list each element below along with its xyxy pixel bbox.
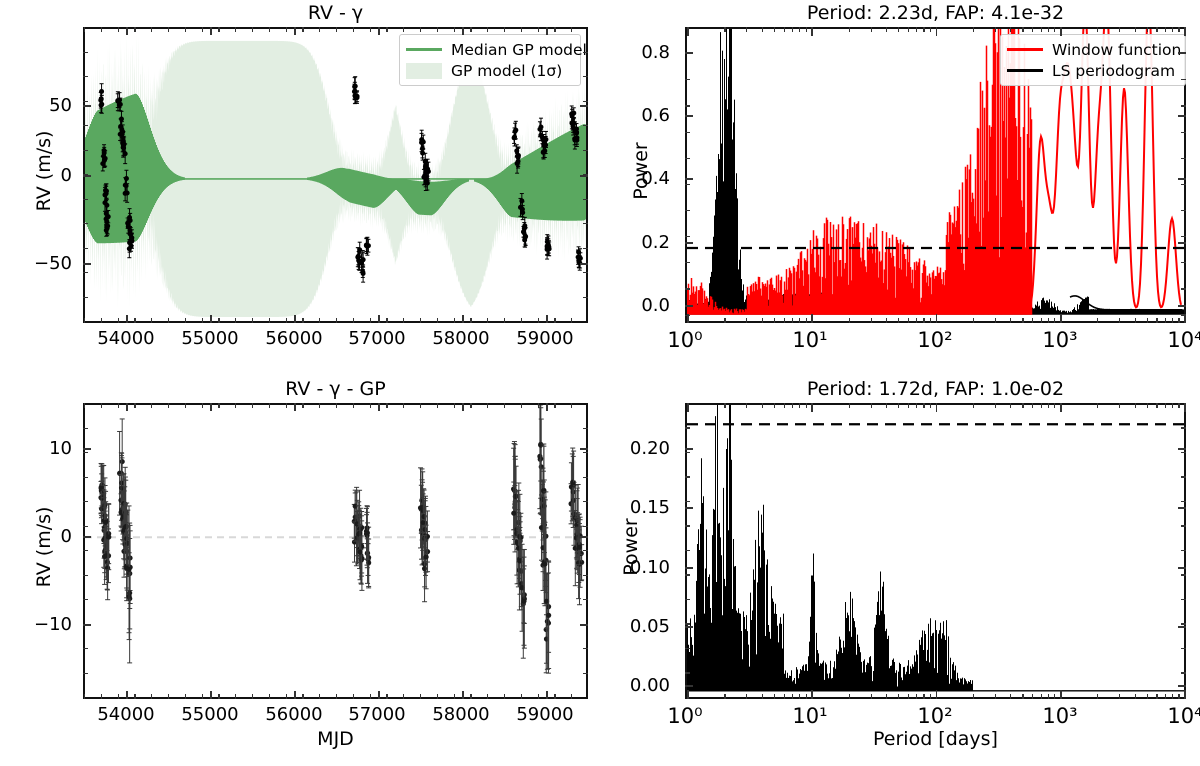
axis-tick: [583, 101, 588, 102]
axis-tick: [583, 52, 588, 53]
axes-periodogram-residuals: [685, 403, 1186, 699]
axis-tick: [792, 694, 793, 699]
axis-tick: [504, 694, 505, 699]
axis-tick: [1147, 318, 1148, 323]
x-tick-label: 10²: [905, 328, 965, 352]
axis-tick: [437, 27, 438, 32]
axis-tick: [1054, 694, 1055, 699]
axis-tick: [685, 672, 690, 673]
axis-tick: [1181, 315, 1186, 316]
axis-tick: [202, 694, 203, 699]
axis-tick: [871, 27, 872, 32]
axis-tick: [973, 318, 974, 323]
axis-tick: [973, 694, 974, 699]
axis-tick: [454, 694, 455, 699]
axis-tick: [487, 27, 488, 32]
axis-tick: [319, 318, 320, 323]
legend-key-window-function: [1007, 43, 1043, 57]
axis-tick: [302, 694, 303, 699]
axis-tick: [1119, 27, 1120, 32]
y-tick-label: 0: [28, 526, 72, 547]
axis-tick: [1135, 27, 1136, 32]
axis-tick: [1054, 27, 1055, 32]
axis-tick: [1181, 105, 1186, 106]
axis-tick: [746, 27, 747, 32]
axis-tick: [1032, 694, 1033, 699]
axis-tick: [1054, 403, 1055, 408]
axis-tick: [1165, 27, 1166, 32]
axis-tick: [126, 691, 128, 699]
legend-item: GP model (1σ): [406, 60, 572, 81]
axis-tick: [916, 403, 917, 408]
y-axis-label-periodogram-residuals: Power: [620, 472, 642, 622]
axis-tick: [936, 314, 938, 323]
axis-tick: [1181, 132, 1186, 133]
axis-tick: [504, 403, 505, 408]
axis-tick: [583, 297, 588, 298]
axis-tick: [126, 27, 128, 35]
axis-tick: [806, 27, 807, 32]
axis-tick: [1181, 262, 1186, 263]
axis-tick: [792, 403, 793, 408]
legend-key-median-gp-model: [406, 43, 442, 57]
axis-tick: [252, 403, 253, 408]
axis-tick: [1181, 525, 1186, 526]
axis-tick: [185, 318, 186, 323]
axis-tick: [685, 452, 690, 453]
axis-tick: [784, 27, 785, 32]
axis-tick: [269, 694, 270, 699]
y-tick-label: 0.10: [600, 557, 670, 578]
axis-tick: [871, 403, 872, 408]
axis-tick: [83, 648, 88, 649]
axis-tick: [898, 27, 899, 32]
axis-tick: [462, 315, 464, 323]
axis-tick: [849, 27, 850, 32]
axis-tick: [580, 175, 588, 177]
axis-tick: [302, 318, 303, 323]
axis-tick: [269, 27, 270, 32]
axis-tick: [470, 403, 471, 408]
axis-tick: [386, 318, 387, 323]
x-tick-label: 10⁴: [1155, 704, 1200, 728]
axis-tick: [583, 452, 588, 453]
axis-tick: [849, 694, 850, 699]
axis-tick: [898, 694, 899, 699]
axis-tick: [554, 403, 555, 408]
axis-tick: [336, 318, 337, 323]
axis-tick: [571, 694, 572, 699]
y-axis-label-rv-residuals: RV (m/s): [33, 472, 55, 622]
y-tick-label: 0.4: [618, 168, 670, 189]
axis-tick: [1178, 242, 1186, 244]
axis-tick: [1048, 318, 1049, 323]
axis-tick: [185, 694, 186, 699]
axis-tick: [370, 318, 371, 323]
axis-tick: [538, 403, 539, 408]
axis-tick: [784, 403, 785, 408]
x-axis-label-periodogram-residuals: Period [days]: [685, 728, 1186, 750]
axis-tick: [83, 125, 88, 126]
axis-tick: [685, 315, 690, 316]
axis-tick: [454, 27, 455, 32]
axis-tick: [1181, 476, 1186, 477]
axis-tick: [1178, 27, 1179, 32]
axis-tick: [1181, 288, 1186, 289]
y-tick-label: 10: [28, 438, 72, 459]
axis-tick: [1060, 403, 1062, 412]
axis-tick: [1097, 318, 1098, 323]
axis-tick: [294, 315, 296, 323]
axis-tick: [218, 403, 219, 408]
x-tick-label: 10¹: [780, 704, 840, 728]
axis-tick: [685, 567, 693, 569]
axis-tick: [454, 318, 455, 323]
axis-tick: [724, 694, 725, 699]
axis-tick: [1165, 318, 1166, 323]
legend-label: LS periodogram: [1052, 62, 1175, 80]
y-tick-label: 0: [28, 165, 72, 186]
x-tick-label: 54000: [83, 328, 169, 349]
axis-tick: [83, 428, 88, 429]
axis-tick: [353, 403, 354, 408]
x-axis-label-rv-residuals: MJD: [83, 728, 588, 750]
panel-title-rv-residuals: RV - γ - GP: [83, 378, 588, 400]
axis-tick: [583, 526, 588, 527]
axis-tick: [1178, 305, 1186, 307]
axis-tick: [685, 115, 693, 117]
axis-tick: [923, 694, 924, 699]
axis-tick: [420, 694, 421, 699]
axis-tick: [583, 599, 588, 600]
axis-tick: [370, 694, 371, 699]
axis-tick: [916, 318, 917, 323]
axis-tick: [571, 27, 572, 32]
axis-tick: [908, 27, 909, 32]
axis-tick: [1060, 27, 1062, 36]
axis-tick: [319, 403, 320, 408]
panel-title-periodogram-rv: Period: 2.23d, FAP: 4.1e-32: [685, 2, 1186, 24]
axis-tick: [1135, 318, 1136, 323]
axis-tick: [685, 53, 690, 54]
axis-tick: [151, 694, 152, 699]
axis-tick: [302, 403, 303, 408]
axis-tick: [583, 199, 588, 200]
axis-tick: [799, 27, 800, 32]
axis-tick: [583, 272, 588, 273]
axis-tick: [235, 27, 236, 32]
axis-tick: [583, 648, 588, 649]
axis-tick: [1178, 318, 1179, 323]
axis-tick: [151, 27, 152, 32]
axis-tick: [1147, 694, 1148, 699]
axis-tick: [84, 318, 85, 323]
axis-tick: [437, 403, 438, 408]
axis-tick: [235, 403, 236, 408]
axis-tick: [685, 427, 690, 428]
axis-tick: [210, 315, 212, 323]
axis-tick: [774, 694, 775, 699]
axis-tick: [386, 403, 387, 408]
axis-tick: [811, 27, 813, 36]
axis-tick: [1041, 27, 1042, 32]
axis-tick: [1041, 318, 1042, 323]
axis-tick: [1178, 507, 1186, 509]
axis-tick: [685, 648, 690, 649]
axis-tick: [746, 403, 747, 408]
axis-tick: [1032, 403, 1033, 408]
axis-tick: [83, 526, 88, 527]
axis-tick: [1165, 403, 1166, 408]
axis-tick: [151, 403, 152, 408]
x-tick-label: 10³: [1030, 704, 1090, 728]
axis-tick: [420, 318, 421, 323]
axis-tick: [1165, 694, 1166, 699]
axis-tick: [792, 318, 793, 323]
axis-tick: [799, 318, 800, 323]
axis-tick: [1032, 27, 1033, 32]
axis-tick: [210, 27, 212, 35]
axis-tick: [1181, 53, 1186, 54]
axis-tick: [908, 318, 909, 323]
axis-tick: [83, 223, 88, 224]
axis-tick: [403, 27, 404, 32]
axis-tick: [168, 403, 169, 408]
axis-tick: [685, 288, 690, 289]
x-tick-label: 56000: [251, 704, 337, 725]
axis-tick: [1178, 403, 1179, 408]
axis-tick: [1147, 403, 1148, 408]
axis-tick: [571, 403, 572, 408]
axis-tick: [583, 223, 588, 224]
x-tick-label: 10⁰: [655, 704, 715, 728]
axis-tick: [83, 175, 91, 177]
axis-tick: [235, 694, 236, 699]
axis-tick: [784, 694, 785, 699]
axis-tick: [936, 27, 938, 36]
x-tick-label: 56000: [251, 328, 337, 349]
axis-tick: [1181, 550, 1186, 551]
axis-tick: [886, 27, 887, 32]
axis-tick: [936, 690, 938, 699]
axis-tick: [571, 318, 572, 323]
axis-tick: [269, 318, 270, 323]
axis-tick: [685, 501, 690, 502]
axis-tick: [1097, 27, 1098, 32]
axis-tick: [83, 599, 88, 600]
axis-tick: [546, 403, 548, 411]
axis-tick: [1135, 694, 1136, 699]
axis-tick: [202, 318, 203, 323]
axis-tick: [1041, 403, 1042, 408]
y-tick-label: 50: [28, 95, 72, 116]
axis-tick: [936, 403, 938, 412]
axis-tick: [685, 599, 690, 600]
axis-tick: [286, 403, 287, 408]
axis-tick: [168, 694, 169, 699]
axis-tick: [487, 403, 488, 408]
axis-tick: [83, 477, 88, 478]
axis-tick: [685, 685, 693, 687]
axis-tick: [319, 694, 320, 699]
axis-tick: [101, 694, 102, 699]
axis-tick: [83, 199, 88, 200]
axis-tick: [84, 27, 85, 32]
x-tick-label: 10¹: [780, 328, 840, 352]
axis-tick: [1178, 115, 1186, 117]
axis-tick: [1178, 448, 1186, 450]
axis-tick: [583, 624, 588, 625]
axis-tick: [353, 694, 354, 699]
x-tick-label: 58000: [418, 704, 504, 725]
axis-tick: [218, 318, 219, 323]
axis-tick: [83, 101, 88, 102]
axis-tick: [1048, 27, 1049, 32]
axis-tick: [908, 403, 909, 408]
axis-tick: [687, 690, 689, 699]
axis-tick: [286, 27, 287, 32]
legend-item: LS periodogram: [1007, 60, 1177, 81]
axis-tick: [849, 318, 850, 323]
axis-tick: [210, 691, 212, 699]
axis-tick: [504, 318, 505, 323]
axis-tick: [1010, 403, 1011, 408]
axis-tick: [1184, 690, 1186, 699]
axis-tick: [580, 448, 588, 450]
axis-tick: [799, 403, 800, 408]
figure-canvas: RV - γ RV (m/s) 50 0 −50 54000 55000 560…: [0, 0, 1200, 766]
axis-tick: [83, 105, 91, 107]
x-tick-label: 10⁴: [1155, 328, 1200, 352]
axis-tick: [923, 403, 924, 408]
axis-tick: [806, 318, 807, 323]
y-tick-label: −10: [20, 614, 72, 635]
axis-tick: [1181, 210, 1186, 211]
axis-tick: [1022, 403, 1023, 408]
axis-tick: [504, 27, 505, 32]
axis-tick: [774, 27, 775, 32]
axis-tick: [1135, 403, 1136, 408]
axis-tick: [583, 125, 588, 126]
axis-tick: [118, 694, 119, 699]
axis-tick: [218, 27, 219, 32]
axis-tick: [685, 476, 690, 477]
axis-tick: [762, 694, 763, 699]
axis-tick: [83, 272, 88, 273]
axis-tick: [930, 318, 931, 323]
axis-tick: [1010, 694, 1011, 699]
axis-tick: [538, 27, 539, 32]
axis-tick: [898, 403, 899, 408]
axis-tick: [1181, 623, 1186, 624]
axis-tick: [420, 403, 421, 408]
axis-tick: [806, 403, 807, 408]
axis-tick: [151, 318, 152, 323]
axis-tick: [583, 575, 588, 576]
axis-tick: [462, 691, 464, 699]
axis-tick: [1032, 318, 1033, 323]
axis-tick: [83, 550, 88, 551]
x-tick-label: 59000: [502, 704, 588, 725]
axis-tick: [1060, 314, 1062, 323]
axis-tick: [1181, 236, 1186, 237]
axis-tick: [886, 694, 887, 699]
axis-tick: [286, 318, 287, 323]
axis-tick: [811, 690, 813, 699]
axis-tick: [1181, 672, 1186, 673]
axis-tick: [118, 403, 119, 408]
axis-tick: [554, 318, 555, 323]
axis-tick: [168, 27, 169, 32]
axis-tick: [811, 403, 813, 412]
axis-tick: [871, 318, 872, 323]
axis-tick: [386, 694, 387, 699]
axis-tick: [811, 314, 813, 323]
x-tick-label: 59000: [502, 328, 588, 349]
axis-tick: [546, 691, 548, 699]
axis-tick: [1156, 403, 1157, 408]
axis-tick: [995, 27, 996, 32]
axis-tick: [871, 694, 872, 699]
axis-tick: [185, 27, 186, 32]
axis-tick: [370, 403, 371, 408]
legend-key-ls-periodogram: [1007, 64, 1043, 78]
axis-tick: [470, 318, 471, 323]
axis-tick: [83, 52, 88, 53]
legend-periodogram-rv: Window function LS periodogram: [1000, 34, 1186, 86]
axis-tick: [101, 27, 102, 32]
x-tick-label: 58000: [418, 328, 504, 349]
axis-tick: [487, 694, 488, 699]
axis-tick: [1022, 27, 1023, 32]
axis-tick: [1097, 403, 1098, 408]
axis-tick: [83, 624, 88, 625]
axis-tick: [294, 691, 296, 699]
axis-tick: [685, 574, 690, 575]
axis-tick: [995, 318, 996, 323]
axis-tick: [269, 403, 270, 408]
axis-tick: [83, 501, 88, 502]
axis-tick: [724, 318, 725, 323]
x-tick-label: 54000: [83, 704, 169, 725]
axis-tick: [583, 76, 588, 77]
axis-tick: [1178, 685, 1186, 687]
axis-tick: [554, 27, 555, 32]
y-tick-label: 0.05: [600, 616, 670, 637]
axis-tick: [134, 694, 135, 699]
axis-tick: [286, 694, 287, 699]
x-tick-label: 10⁰: [655, 328, 715, 352]
axis-tick: [973, 403, 974, 408]
axes-rv-residuals: [83, 403, 588, 699]
axis-tick: [799, 694, 800, 699]
axis-tick: [1178, 178, 1186, 180]
panel-title-periodogram-residuals: Period: 1.72d, FAP: 1.0e-02: [685, 378, 1186, 400]
axis-tick: [1147, 27, 1148, 32]
axis-tick: [1181, 184, 1186, 185]
axis-tick: [685, 210, 690, 211]
axis-tick: [1172, 403, 1173, 408]
axis-tick: [1181, 648, 1186, 649]
axis-tick: [583, 673, 588, 674]
axis-tick: [724, 27, 725, 32]
axis-tick: [83, 174, 88, 175]
axis-tick: [583, 174, 588, 175]
axis-tick: [353, 318, 354, 323]
y-tick-label: 0.15: [600, 497, 670, 518]
axis-tick: [470, 27, 471, 32]
axis-tick: [930, 403, 931, 408]
